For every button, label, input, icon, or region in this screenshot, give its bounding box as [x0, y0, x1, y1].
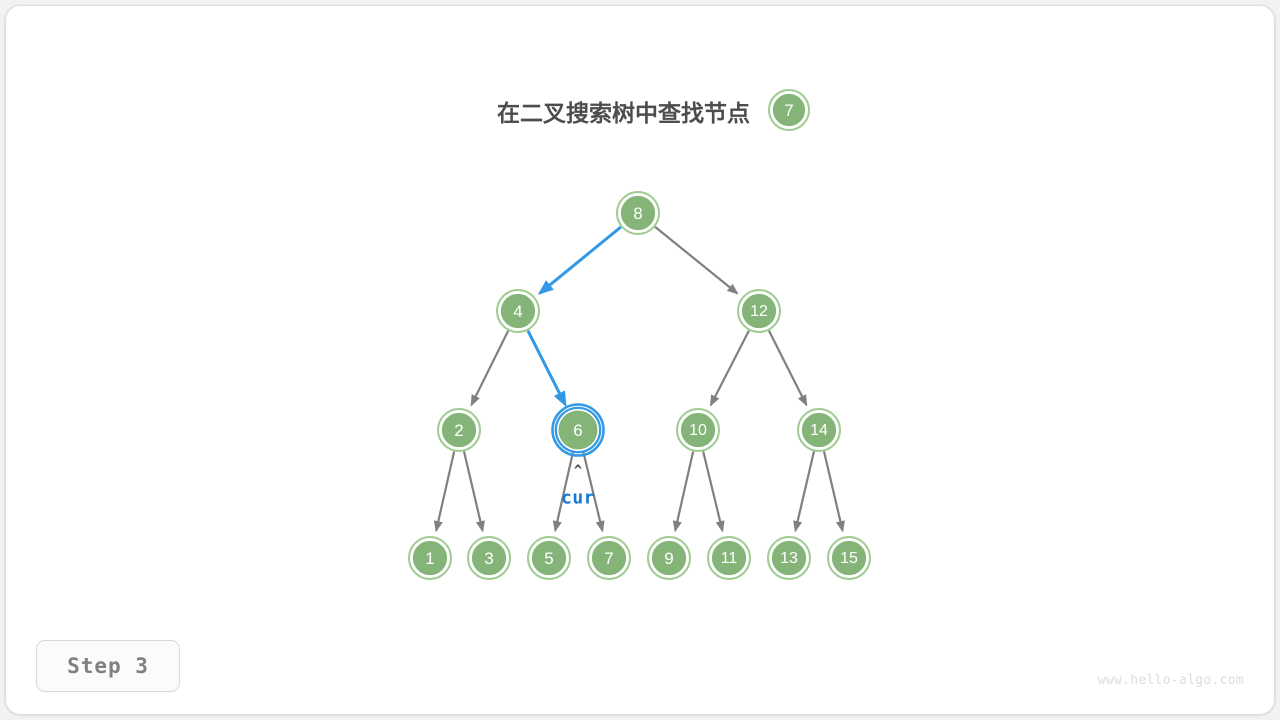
tree-edge [824, 451, 843, 530]
watermark: www.hello-algo.com [1098, 673, 1244, 688]
tree-edge [675, 451, 693, 530]
node-value: 2 [454, 421, 463, 440]
tree-node: 11 [708, 537, 750, 579]
cur-caret-icon: ^ [574, 463, 582, 479]
tree-edge [703, 451, 722, 530]
node-value: 10 [689, 422, 707, 439]
tree-node: 15 [828, 537, 870, 579]
title-target-node: 7 [769, 90, 809, 130]
tree-graphic: 841226101413579111315 7 [0, 0, 1280, 720]
tree-node: 14 [798, 409, 840, 451]
node-value: 1 [425, 549, 434, 568]
node-value: 15 [840, 550, 858, 567]
tree-node: 5 [528, 537, 570, 579]
node-value: 8 [633, 204, 642, 223]
tree-node: 6 [553, 405, 604, 456]
node-value: 9 [664, 549, 673, 568]
node-value: 11 [721, 550, 738, 567]
node-value: 13 [780, 550, 798, 567]
tree-edge [471, 331, 508, 405]
node-value: 5 [544, 549, 553, 568]
tree-node: 7 [588, 537, 630, 579]
tree-edge [540, 227, 621, 293]
tree-node: 1 [409, 537, 451, 579]
tree-node: 4 [497, 290, 539, 332]
tree-node: 13 [768, 537, 810, 579]
node-value: 4 [513, 302, 522, 321]
step-badge: Step 3 [36, 640, 180, 692]
node-value: 7 [784, 101, 793, 120]
tree-edge [711, 331, 749, 406]
tree-node: 12 [738, 290, 780, 332]
node-value: 7 [604, 549, 613, 568]
tree-edge [795, 451, 814, 530]
tree-edge [769, 331, 806, 405]
target-node: 7 [769, 90, 809, 130]
tree-edge [655, 227, 737, 294]
tree-edge [436, 451, 454, 530]
cur-pointer-label: cur [561, 488, 595, 509]
node-value: 6 [573, 421, 582, 440]
node-value: 3 [484, 549, 493, 568]
diagram-canvas: 在二叉搜索树中查找节点 841226101413579111315 7 ^ cu… [0, 0, 1280, 720]
tree-node: 10 [677, 409, 719, 451]
tree-node: 3 [468, 537, 510, 579]
node-group: 841226101413579111315 [409, 192, 870, 579]
node-value: 14 [810, 422, 828, 439]
node-value: 12 [750, 303, 768, 320]
edge-group [436, 227, 842, 531]
tree-edge [464, 451, 483, 530]
tree-node: 9 [648, 537, 690, 579]
tree-node: 8 [617, 192, 659, 234]
tree-node: 2 [438, 409, 480, 451]
tree-edge [528, 331, 565, 405]
